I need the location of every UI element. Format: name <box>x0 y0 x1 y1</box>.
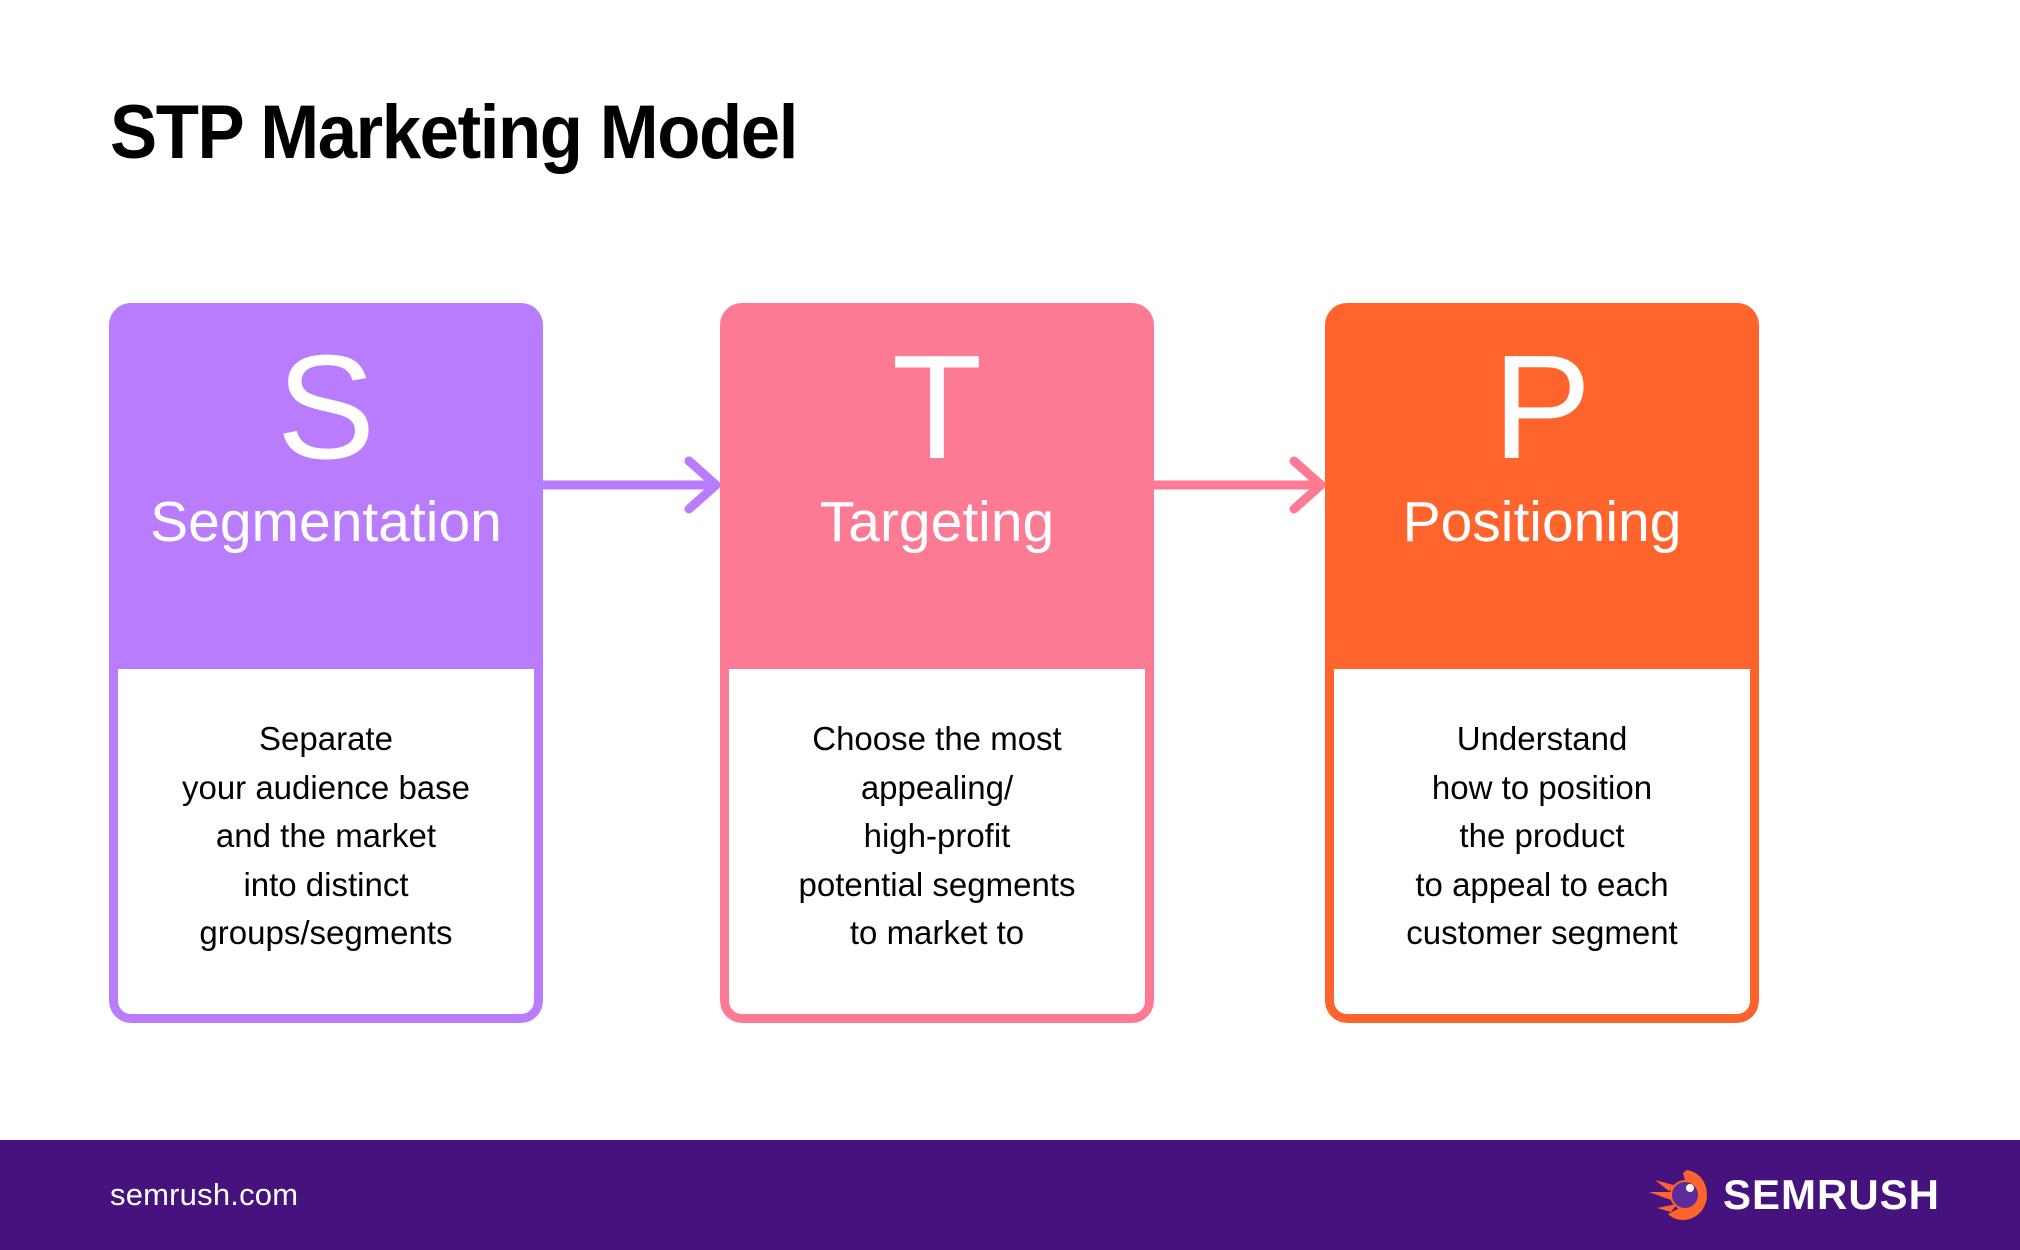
card-segmentation: S Segmentation Separate your audience ba… <box>109 303 543 1023</box>
footer-url[interactable]: semrush.com <box>110 1177 298 1213</box>
card-positioning-title: Positioning <box>1403 493 1682 553</box>
arrow-targeting-to-positioning <box>1150 455 1328 515</box>
page-title: STP Marketing Model <box>110 95 797 171</box>
slide-canvas: STP Marketing Model S Segmentation Separ… <box>0 0 2020 1250</box>
card-segmentation-title: Segmentation <box>150 493 502 553</box>
card-targeting: T Targeting Choose the most appealing/ h… <box>720 303 1154 1023</box>
footer-bar: semrush.com SEMRUSH <box>0 1140 2020 1250</box>
card-positioning-letter: P <box>1493 325 1592 491</box>
arrow-segmentation-to-targeting <box>541 455 723 515</box>
card-targeting-body-text: Choose the most appealing/ high-profit p… <box>798 715 1075 958</box>
card-targeting-body: Choose the most appealing/ high-profit p… <box>720 669 1154 1023</box>
card-segmentation-body: Separate your audience base and the mark… <box>109 669 543 1023</box>
card-targeting-title: Targeting <box>820 493 1055 553</box>
arrow-right-icon <box>1150 455 1328 515</box>
arrow-right-icon <box>541 455 723 515</box>
card-segmentation-body-text: Separate your audience base and the mark… <box>182 715 470 958</box>
card-segmentation-header: S Segmentation <box>109 303 543 669</box>
card-positioning: P Positioning Understand how to position… <box>1325 303 1759 1023</box>
card-positioning-header: P Positioning <box>1325 303 1759 669</box>
card-positioning-body: Understand how to position the product t… <box>1325 669 1759 1023</box>
card-targeting-header: T Targeting <box>720 303 1154 669</box>
card-positioning-body-text: Understand how to position the product t… <box>1406 715 1677 958</box>
semrush-wordmark: SEMRUSH <box>1723 1171 1940 1219</box>
card-targeting-letter: T <box>892 325 982 491</box>
semrush-logo: SEMRUSH <box>1647 1164 1940 1226</box>
semrush-comet-icon <box>1647 1164 1709 1226</box>
card-segmentation-letter: S <box>277 325 376 491</box>
